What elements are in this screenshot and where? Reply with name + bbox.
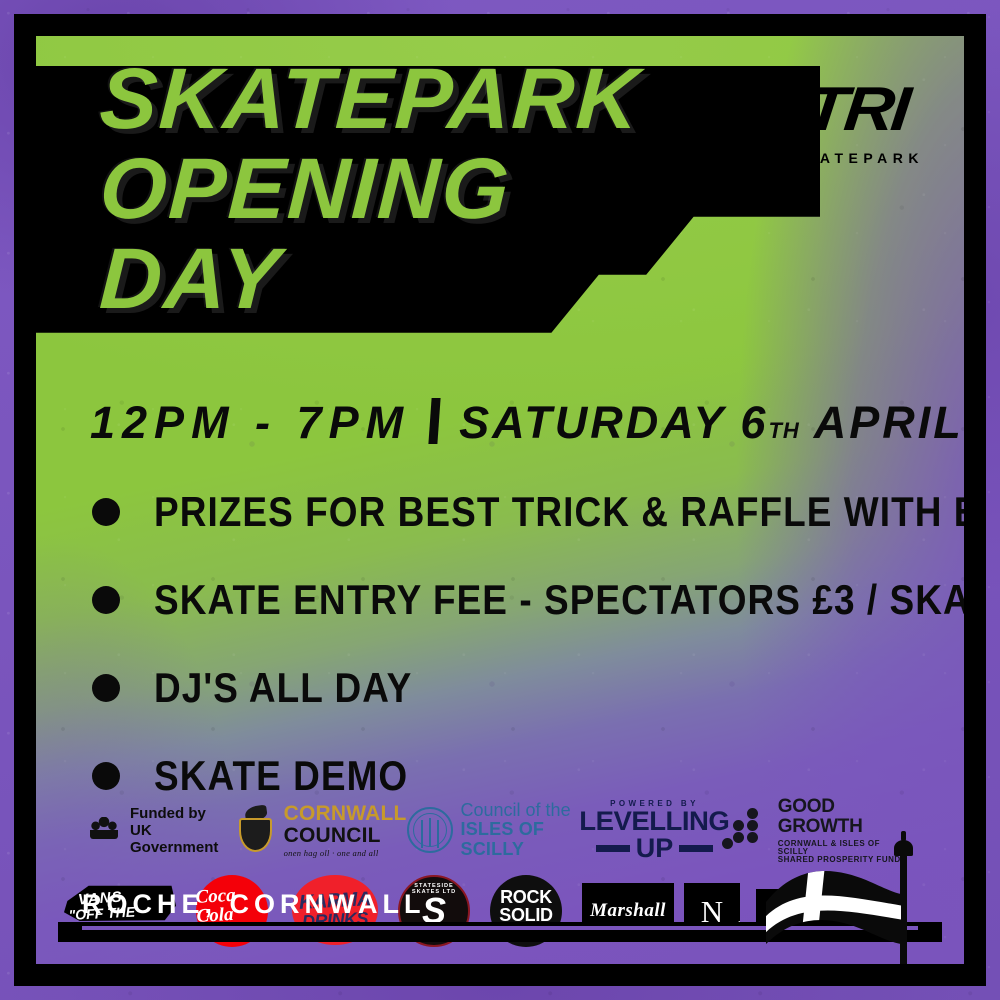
- list-item: SKATE ENTRY FEE - SPECTATORS £3 / SKATER…: [92, 556, 964, 644]
- tri-wordmark: TRI: [778, 80, 935, 140]
- schedule-divider: [428, 398, 440, 444]
- location-label: ROCHE, CORNWALL: [82, 889, 425, 920]
- levelling-line-2: UP: [636, 835, 674, 862]
- logo-uk-government: Funded by UK Government: [82, 805, 235, 856]
- bullet-dot-icon: [92, 586, 120, 614]
- logo-isles-of-scilly: Council of the ISLES OF SCILLY: [407, 801, 579, 859]
- marshall-wordmark: Marshall: [590, 900, 666, 922]
- page-title: SKATEPARK OPENING DAY: [100, 54, 640, 324]
- feature-list: PRIZES FOR BEST TRICK & RAFFLE WITH ENTR…: [92, 468, 964, 820]
- tri-sublabel: SKATEPARK: [789, 150, 924, 166]
- title-line-3: DAY: [98, 234, 643, 324]
- cornwall-line-1: CORNWALL: [284, 803, 407, 824]
- ukgov-line-2: UK Government: [130, 822, 235, 856]
- levelling-bar-right-icon: [679, 845, 713, 852]
- list-item: PRIZES FOR BEST TRICK & RAFFLE WITH ENTR…: [92, 468, 964, 556]
- cornwall-line-2: COUNCIL: [284, 825, 407, 846]
- schedule-day: SATURDAY: [459, 397, 726, 449]
- shield-icon: [239, 818, 272, 852]
- schedule-date-ordinal: TH: [768, 418, 799, 444]
- list-item-label: SKATE DEMO: [154, 752, 408, 800]
- logo-cornwall-council: CORNWALL COUNCIL onen hag oll · one and …: [235, 803, 407, 858]
- bullet-dot-icon: [92, 498, 120, 526]
- poster-root: SKATEPARK OPENING DAY TRI SKATEPARK 12PM…: [0, 0, 1000, 1000]
- crown-crest-icon: [82, 813, 126, 847]
- good-growth-line-2: GROWTH: [778, 817, 912, 836]
- tri-skatepark-logo: TRI SKATEPARK: [789, 80, 924, 166]
- scilly-seal-icon: [407, 807, 453, 853]
- levelling-bar-left-icon: [596, 845, 630, 852]
- poster-black-frame: SKATEPARK OPENING DAY TRI SKATEPARK 12PM…: [14, 14, 986, 986]
- st-pirans-cross-flag-icon: [758, 844, 948, 964]
- title-line-2: OPENING: [98, 144, 643, 234]
- cornwall-crest-icon: [235, 806, 277, 854]
- bullet-dot-icon: [92, 674, 120, 702]
- list-item: DJ'S ALL DAY: [92, 644, 964, 732]
- schedule-line: 12PM - 7PM SATURDAY 6 TH APRIL: [90, 392, 964, 449]
- bullet-dot-icon: [92, 762, 120, 790]
- poster-inner-canvas: SKATEPARK OPENING DAY TRI SKATEPARK 12PM…: [36, 36, 964, 964]
- good-growth-line-1: GOOD: [778, 797, 912, 816]
- cornwall-motto: onen hag oll · one and all: [284, 849, 407, 858]
- logo-levelling-up: POWERED BY LEVELLING UP: [578, 799, 731, 862]
- list-item-label: PRIZES FOR BEST TRICK & RAFFLE WITH ENTR…: [154, 488, 964, 536]
- list-item-label: SKATE ENTRY FEE - SPECTATORS £3 / SKATER…: [154, 576, 964, 624]
- levelling-line-1: LEVELLING: [577, 808, 733, 835]
- ukgov-line-1: Funded by: [130, 805, 235, 822]
- scilly-line-1: Council of the: [461, 801, 579, 820]
- schedule-month: APRIL: [814, 397, 964, 449]
- title-line-1: SKATEPARK: [98, 54, 643, 144]
- cornish-flag: [764, 836, 954, 964]
- rock-solid-line-1: ROCK: [500, 888, 552, 906]
- scilly-line-2: ISLES OF SCILLY: [461, 820, 579, 859]
- rock-solid-line-2: SOLID: [499, 906, 553, 924]
- schedule-date-number: 6: [740, 397, 768, 449]
- list-item-label: DJ'S ALL DAY: [154, 664, 412, 712]
- schedule-hours: 12PM - 7PM: [90, 397, 410, 449]
